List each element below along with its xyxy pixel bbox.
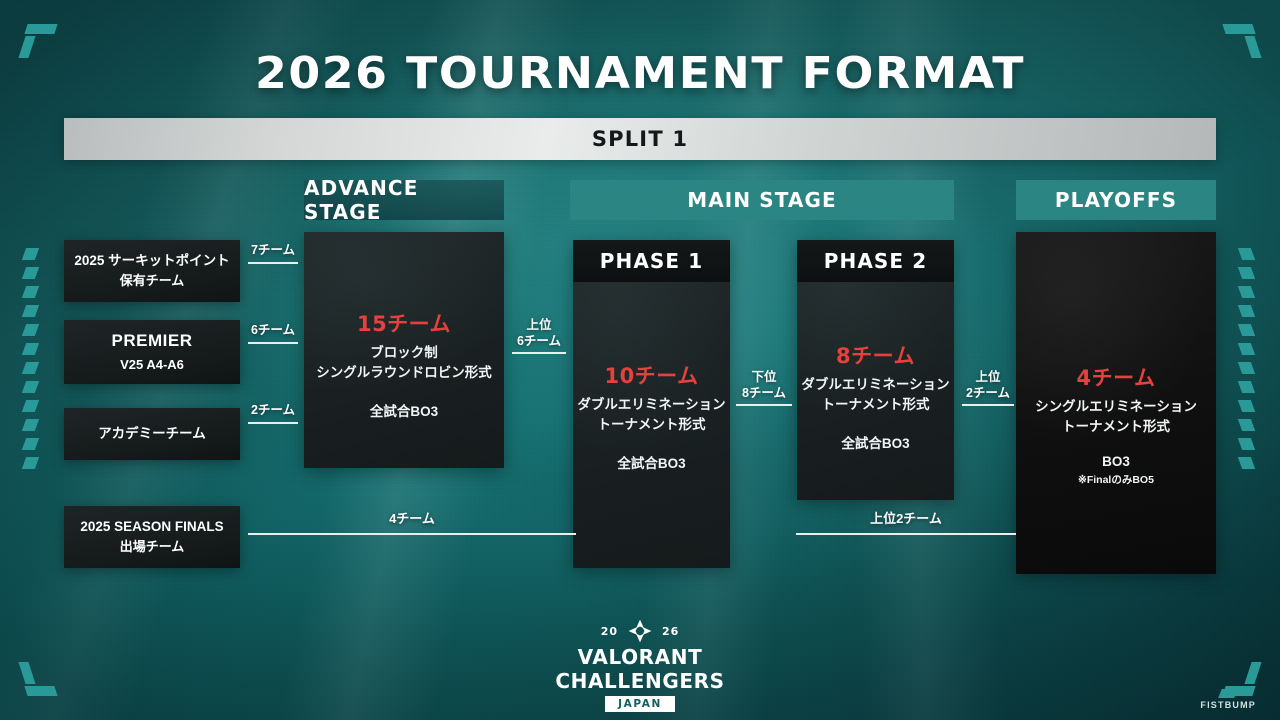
- fistbump-label: FISTBUMP: [1200, 700, 1256, 710]
- connector-line: [248, 342, 298, 344]
- playoffs-teams: 4チーム: [1016, 362, 1216, 392]
- phase2-panel: PHASE 2 8チーム ダブルエリミネーション トーナメント形式 全試合BO3: [797, 240, 954, 500]
- connector-label: 上位 6チーム: [512, 318, 566, 352]
- connector-phase2-bottom-to-playoffs: 上位2チーム: [796, 508, 1016, 535]
- connector-line: [248, 533, 576, 535]
- connector-advance-to-phase1: 上位 6チーム: [512, 318, 566, 354]
- connector-label: 2チーム: [248, 403, 298, 422]
- advance-stage-teams: 15チーム: [304, 308, 504, 338]
- connector-label: 7チーム: [248, 243, 298, 262]
- source-box-season-finals: 2025 SEASON FINALS 出場チーム: [64, 506, 240, 568]
- logo-name-line2: CHALLENGERS: [0, 671, 1280, 692]
- playoffs-panel: 4チーム シングルエリミネーション トーナメント形式 BO3 ※FinalのみB…: [1016, 232, 1216, 574]
- connector-season-finals-to-phase1: 4チーム: [248, 508, 576, 535]
- valorant-challengers-logo: 20 26 VALORANT CHALLENGERS JAPAN: [0, 618, 1280, 712]
- connector-circuit-points-to-advance: 7チーム: [248, 243, 298, 264]
- advance-stage-format-line1: ブロック制: [304, 343, 504, 363]
- phase1-header-label: PHASE 1: [600, 249, 704, 273]
- phase1-format-line2: トーナメント形式: [573, 415, 730, 435]
- source-box-line1: 2025 サーキットポイント: [74, 251, 229, 271]
- playoffs-bo: BO3: [1102, 454, 1130, 469]
- logo-name-line1: VALORANT: [0, 647, 1280, 668]
- advance-stage-format-line2: シングルラウンドロビン形式: [304, 363, 504, 383]
- phase2-bo: 全試合BO3: [797, 432, 954, 452]
- source-box-line1: 2025 SEASON FINALS: [80, 517, 223, 537]
- split-banner-label: SPLIT 1: [592, 127, 688, 151]
- main-stage-header-label: MAIN STAGE: [687, 188, 837, 212]
- advance-stage-panel: 15チーム ブロック制 シングルラウンドロビン形式 全試合BO3: [304, 232, 504, 468]
- playoffs-header: PLAYOFFS: [1016, 180, 1216, 220]
- page-title: 2026 TOURNAMENT FORMAT: [0, 48, 1280, 99]
- main-stage-header: MAIN STAGE: [570, 180, 954, 220]
- logo-year-left: 20: [601, 625, 618, 638]
- dashed-rule-left: [24, 248, 40, 480]
- source-box-line2: 保有チーム: [120, 272, 185, 291]
- source-box-academy: アカデミーチーム: [64, 408, 240, 460]
- phase2-teams: 8チーム: [797, 340, 954, 370]
- connector-line: [736, 404, 792, 406]
- valorant-star-icon: [627, 618, 653, 644]
- playoffs-format-line1: シングルエリミネーション: [1016, 397, 1216, 417]
- split-banner: SPLIT 1: [64, 118, 1216, 160]
- phase2-header: PHASE 2: [797, 240, 954, 282]
- advance-stage-header-label: ADVANCE STAGE: [304, 176, 504, 224]
- phase2-header-label: PHASE 2: [824, 249, 928, 273]
- connector-premier-to-advance: 6チーム: [248, 323, 298, 344]
- phase2-format-line2: トーナメント形式: [797, 395, 954, 415]
- phase1-header: PHASE 1: [573, 240, 730, 282]
- connector-line: [248, 262, 298, 264]
- connector-line: [248, 422, 298, 424]
- fistbump-watermark: FISTBUMP: [1200, 689, 1256, 710]
- phase2-format-line1: ダブルエリミネーション: [797, 375, 954, 395]
- phase1-teams: 10チーム: [573, 360, 730, 390]
- advance-stage-header: ADVANCE STAGE: [304, 180, 504, 220]
- connector-phase1-to-phase2: 下位 8チーム: [736, 370, 792, 406]
- fistbump-mark-icon: [1218, 689, 1238, 698]
- logo-region-badge: JAPAN: [605, 696, 675, 712]
- source-box-line2: 出場チーム: [120, 538, 185, 557]
- connector-label: 上位2チーム: [796, 508, 1016, 533]
- source-box-line1: アカデミーチーム: [98, 424, 206, 444]
- phase1-bo: 全試合BO3: [573, 452, 730, 472]
- playoffs-format-line2: トーナメント形式: [1016, 417, 1216, 437]
- connector-line: [962, 404, 1014, 406]
- playoffs-bo-note: ※FinalのみBO5: [1016, 472, 1216, 487]
- phase1-format-line1: ダブルエリミネーション: [573, 395, 730, 415]
- connector-label: 上位 2チーム: [962, 370, 1014, 404]
- source-box-line1: PREMIER: [112, 329, 193, 354]
- connector-line: [512, 352, 566, 354]
- connector-label: 6チーム: [248, 323, 298, 342]
- dashed-rule-right: [1240, 248, 1256, 480]
- connector-line: [796, 533, 1016, 535]
- connector-phase2-to-playoffs: 上位 2チーム: [962, 370, 1014, 406]
- logo-year-right: 26: [662, 625, 679, 638]
- phase1-panel: PHASE 1 10チーム ダブルエリミネーション トーナメント形式 全試合BO…: [573, 240, 730, 568]
- connector-academy-to-advance: 2チーム: [248, 403, 298, 424]
- source-box-circuit-points: 2025 サーキットポイント 保有チーム: [64, 240, 240, 302]
- playoffs-header-label: PLAYOFFS: [1055, 188, 1177, 212]
- connector-label: 下位 8チーム: [736, 370, 792, 404]
- advance-stage-bo: 全試合BO3: [304, 400, 504, 420]
- source-box-premier: PREMIER V25 A4-A6: [64, 320, 240, 384]
- connector-label: 4チーム: [248, 508, 576, 533]
- source-box-line2: V25 A4-A6: [120, 356, 184, 375]
